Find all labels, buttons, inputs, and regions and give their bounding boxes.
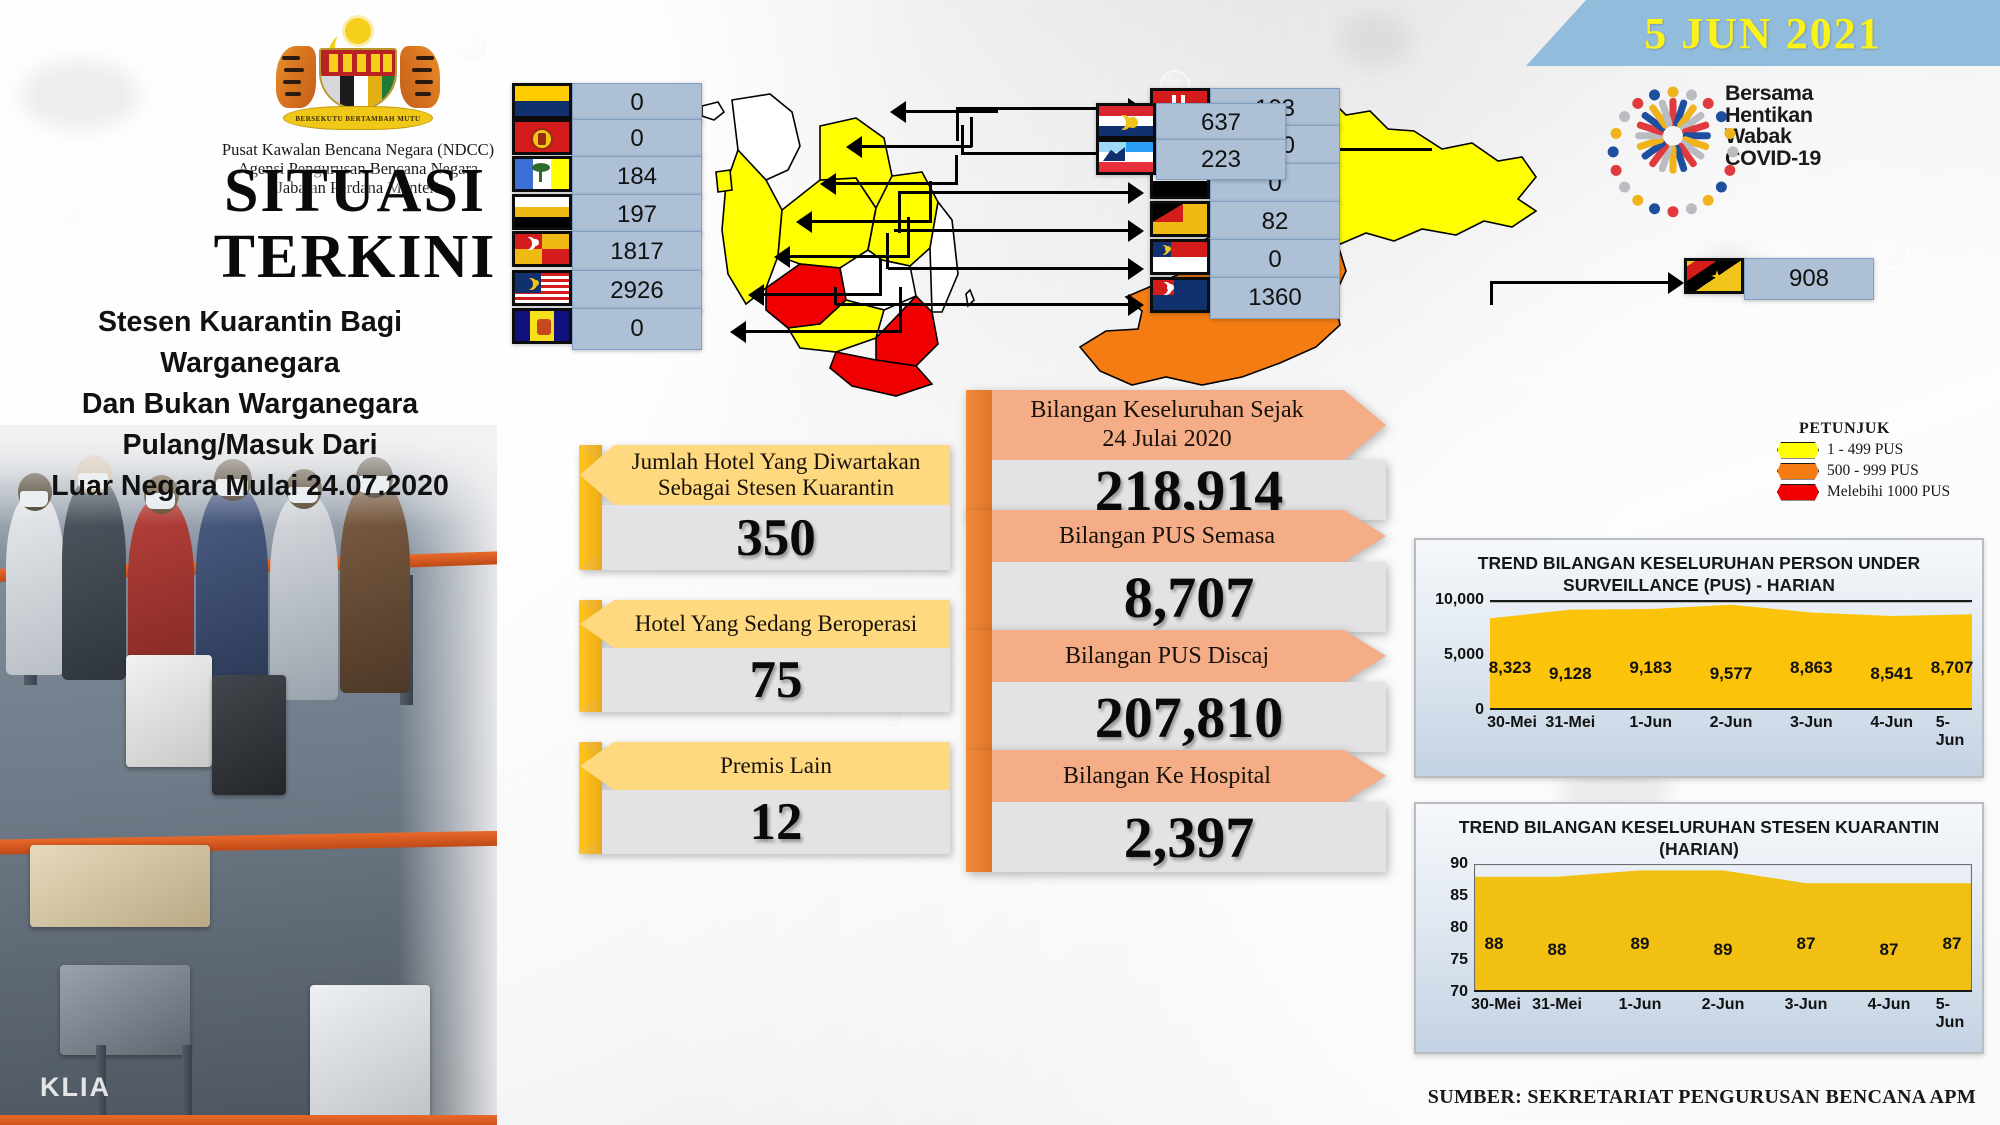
covid-logo-line-3: Wabak <box>1725 126 1821 148</box>
photo-luggage <box>212 675 286 795</box>
connector-arrow <box>796 211 812 233</box>
connector-line <box>886 233 889 269</box>
chart-pus-trend-xaxis: 30-Mei31-Mei1-Jun2-Jun3-Jun4-Jun5-Jun <box>1490 714 1968 740</box>
chart-station-trend-plot: 7075808590 88888989878787 <box>1474 864 1968 992</box>
connector-arrow <box>774 246 790 268</box>
chart-data-label: 9,577 <box>1710 664 1753 684</box>
flag-sarawak-icon <box>1684 258 1744 294</box>
malaysia-coat-of-arms-icon: BERSEKUTU BERTAMBAH MUTU <box>270 18 446 136</box>
stat-value-box: 8,707 <box>992 562 1386 632</box>
connector-line <box>955 155 958 185</box>
connector-line <box>834 287 837 305</box>
stat-to-hospital-label: Bilangan Ke Hospital <box>992 750 1342 802</box>
connector-arrow <box>1128 258 1144 280</box>
state-value-kedah-number: 0 <box>572 119 702 159</box>
chart-xtick: 5-Jun <box>1936 996 1964 1032</box>
banner-side-bevel <box>966 510 992 632</box>
connector-arrow <box>1128 182 1144 204</box>
subtitle-line-2: Dan Bukan Warganegara <box>20 384 480 425</box>
state-value-melaka-number: 0 <box>1210 239 1340 281</box>
airport-queue-photo: KLIA <box>0 425 497 1125</box>
page-title-line-2: TERKINI <box>115 224 595 290</box>
chart-pus-trend-area <box>1490 600 1972 710</box>
subtitle-line-3: Pulang/Masuk Dari <box>20 425 480 466</box>
banner-side-bevel <box>966 390 992 520</box>
flag-putrajaya-icon <box>512 308 572 344</box>
photo-luggage <box>126 655 212 767</box>
flag-melaka-icon <box>1150 239 1210 275</box>
stat-hotel-gazetted-label: Jumlah Hotel Yang DiwartakanSebagai Stes… <box>610 445 942 505</box>
chart-data-label: 8,323 <box>1489 658 1532 678</box>
chart-pus-trend-title: TREND BILANGAN KESELURUHAN PERSON UNDER … <box>1416 540 1982 600</box>
legend-swatch-orange-icon <box>1777 463 1819 480</box>
state-value-negeri-sembilan[interactable]: 82 <box>1150 201 1340 243</box>
chart-station-trend-yaxis: 7075808590 <box>1418 864 1468 992</box>
legend-label-1: 1 - 499 PUS <box>1827 441 1903 459</box>
legend-label-3: Melebihi 1000 PUS <box>1827 483 1950 501</box>
covid-logo-line-1: Bersama <box>1725 83 1821 105</box>
chart-ytick: 85 <box>1450 887 1468 905</box>
chart-data-label: 87 <box>1943 934 1962 954</box>
state-value-johor[interactable]: 1360 <box>1150 277 1340 319</box>
chart-data-label: 89 <box>1631 934 1650 954</box>
chart-xtick: 3-Jun <box>1785 996 1828 1014</box>
chart-data-label: 9,183 <box>1629 658 1672 678</box>
stat-total-since-label: Bilangan Keseluruhan Sejak24 Julai 2020 <box>992 390 1342 460</box>
chart-pus-trend-yaxis: 05,00010,000 <box>1418 600 1484 710</box>
state-value-melaka[interactable]: 0 <box>1150 239 1340 281</box>
connector-line <box>1490 281 1668 284</box>
connector-arrow <box>820 173 836 195</box>
source-footer: SUMBER: SEKRETARIAT PENGURUSAN BENCANA A… <box>1428 1086 1976 1109</box>
stat-total-since: 218,914 Bilangan Keseluruhan Sejak24 Jul… <box>966 390 1386 520</box>
legend-label-2: 500 - 999 PUS <box>1827 462 1919 480</box>
page-subtitle: Stesen Kuarantin Bagi Warganegara Dan Bu… <box>20 302 480 507</box>
banner-side-bevel <box>966 750 992 872</box>
chart-ytick: 70 <box>1450 983 1468 1001</box>
covid-ring-icon <box>1632 85 1714 167</box>
chart-pus-trend-plot: 05,00010,000 8,3239,1289,1839,5778,8638,… <box>1490 600 1968 710</box>
chart-xtick: 4-Jun <box>1870 714 1913 732</box>
stat-current-pus-value: 8,707 <box>992 562 1386 632</box>
chart-data-label: 88 <box>1485 934 1504 954</box>
chart-xtick: 1-Jun <box>1629 714 1672 732</box>
state-value-putrajaya[interactable]: 0 <box>512 308 702 350</box>
photo-luggage <box>310 985 430 1125</box>
page-title-line-1: SITUASI <box>115 158 595 224</box>
connector-line <box>894 229 1128 232</box>
chart-ytick: 90 <box>1450 855 1468 873</box>
connector-line <box>812 220 932 223</box>
chart-ytick: 80 <box>1450 919 1468 937</box>
chart-data-label: 8,863 <box>1790 658 1833 678</box>
state-value-sabah-number: 223 <box>1156 139 1286 180</box>
state-value-labuan[interactable]: 637 <box>1096 103 1286 143</box>
state-value-sarawak[interactable]: 908 <box>1684 258 1874 300</box>
chart-station-trend-area <box>1474 864 1972 992</box>
subtitle-line-1: Stesen Kuarantin Bagi Warganegara <box>20 302 480 384</box>
map-legend: PETUNJUK 1 - 499 PUS 500 - 999 PUS Meleb… <box>1777 420 1992 504</box>
legend-swatch-red-icon <box>1777 484 1819 501</box>
flag-negeri-sembilan-icon <box>1150 201 1210 237</box>
stat-to-hospital: 2,397 Bilangan Ke Hospital <box>966 750 1386 872</box>
stat-value-box: 12 <box>602 790 950 854</box>
chart-xtick: 30-Mei <box>1471 996 1521 1014</box>
photo-luggage <box>30 845 210 927</box>
chart-xtick: 5-Jun <box>1936 714 1964 750</box>
chart-ytick: 75 <box>1450 951 1468 969</box>
connector-line <box>836 303 1128 306</box>
covid-logo-line-4: COVID-19 <box>1725 148 1821 170</box>
chart-data-label: 88 <box>1548 940 1567 960</box>
connector-line <box>746 330 902 333</box>
chart-xtick: 30-Mei <box>1487 714 1537 732</box>
legend-title: PETUNJUK <box>1799 420 1992 438</box>
connector-line <box>956 107 959 141</box>
stat-current-pus: 8,707 Bilangan PUS Semasa <box>966 510 1386 632</box>
chart-station-trend: TREND BILANGAN KESELURUHAN STESEN KUARAN… <box>1414 802 1984 1054</box>
bubble-decoration <box>60 205 82 227</box>
stat-discharged-pus-value: 207,810 <box>992 682 1386 752</box>
legend-swatch-yellow-icon <box>1777 442 1819 459</box>
connector-arrow <box>1668 272 1684 294</box>
chart-station-trend-xaxis: 30-Mei31-Mei1-Jun2-Jun3-Jun4-Jun5-Jun <box>1474 996 1968 1022</box>
chart-xtick: 31-Mei <box>1545 714 1595 732</box>
chart-data-label: 87 <box>1880 940 1899 960</box>
state-value-negeri-sembilan-number: 82 <box>1210 201 1340 243</box>
stat-current-pus-label: Bilangan PUS Semasa <box>992 510 1342 562</box>
stat-discharged-pus-label: Bilangan PUS Discaj <box>992 630 1342 682</box>
covid-logo-line-2: Hentikan <box>1725 105 1821 127</box>
stat-hotel-operating: 75 Hotel Yang Sedang Beroperasi <box>580 600 950 712</box>
flag-labuan-icon <box>1096 103 1156 139</box>
stat-value-box: 350 <box>602 505 950 570</box>
page-title: SITUASI TERKINI <box>115 158 595 290</box>
connector-arrow <box>846 136 862 158</box>
flag-sabah-icon <box>1096 139 1156 175</box>
chart-data-label: 9,128 <box>1549 664 1592 684</box>
stat-value-box: 75 <box>602 648 950 712</box>
stat-hotel-gazetted: 350 Jumlah Hotel Yang DiwartakanSebagai … <box>580 445 950 570</box>
chart-xtick: 3-Jun <box>1790 714 1833 732</box>
chart-data-label: 8,541 <box>1870 664 1913 684</box>
state-value-putrajaya-number: 0 <box>572 308 702 350</box>
connector-line <box>879 259 882 295</box>
photo-trolley-frame <box>182 1045 192 1125</box>
stat-value-box: 2,397 <box>992 802 1386 872</box>
chart-data-label: 87 <box>1797 934 1816 954</box>
state-value-sabah[interactable]: 223 <box>1096 139 1286 180</box>
photo-luggage <box>60 965 190 1055</box>
stat-other-premises-value: 12 <box>602 790 950 854</box>
chart-ytick: 10,000 <box>1435 591 1484 609</box>
chart-pus-trend: TREND BILANGAN KESELURUHAN PERSON UNDER … <box>1414 538 1984 778</box>
chart-xtick: 1-Jun <box>1619 996 1662 1014</box>
connector-line <box>1490 281 1493 305</box>
stat-discharged-pus: 207,810 Bilangan PUS Discaj <box>966 630 1386 752</box>
connector-line <box>888 267 1128 270</box>
covid-logo-text: Bersama Hentikan Wabak COVID-19 <box>1725 83 1821 169</box>
connector-line <box>970 117 973 147</box>
connector-arrow <box>748 284 764 306</box>
flag-johor-icon <box>1150 277 1210 313</box>
smudge-decoration <box>20 60 140 130</box>
stat-hotel-gazetted-value: 350 <box>602 505 950 570</box>
state-value-sarawak-number: 908 <box>1744 258 1874 300</box>
chart-xtick: 2-Jun <box>1702 996 1745 1014</box>
stat-other-premises: 12 Premis Lain <box>580 742 950 854</box>
state-value-johor-number: 1360 <box>1210 277 1340 319</box>
date-banner: 5 JUN 2021 <box>1526 0 2000 66</box>
connector-line <box>929 181 932 223</box>
connector-line <box>764 293 882 296</box>
chart-xtick: 2-Jun <box>1710 714 1753 732</box>
connector-line <box>961 125 964 155</box>
chart-ytick: 5,000 <box>1444 646 1484 664</box>
stat-hotel-operating-label: Hotel Yang Sedang Beroperasi <box>610 600 942 648</box>
photo-klia-caption: KLIA <box>40 1072 111 1103</box>
bersama-hentikan-wabak-covid19-logo: Bersama Hentikan Wabak COVID-19 <box>1632 82 1982 170</box>
stat-hotel-operating-value: 75 <box>602 648 950 712</box>
photo-barrier-rail <box>0 1115 497 1125</box>
legend-item: Melebihi 1000 PUS <box>1777 483 1992 501</box>
connector-line <box>790 255 910 258</box>
stat-value-box: 207,810 <box>992 682 1386 752</box>
connector-arrow <box>890 101 906 123</box>
chart-data-label: 89 <box>1714 940 1733 960</box>
banner-side-bevel <box>966 630 992 752</box>
legend-item: 1 - 499 PUS <box>1777 441 1992 459</box>
chart-xtick: 4-Jun <box>1868 996 1911 1014</box>
legend-item: 500 - 999 PUS <box>1777 462 1992 480</box>
state-value-labuan-number: 637 <box>1156 103 1286 143</box>
connector-line <box>898 191 901 233</box>
crest-motto: BERSEKUTU BERTAMBAH MUTU <box>284 107 432 131</box>
connector-line <box>906 110 998 113</box>
connector-line <box>907 217 910 258</box>
connector-line <box>899 287 902 332</box>
connector-arrow <box>730 321 746 343</box>
chart-xtick: 31-Mei <box>1532 996 1582 1014</box>
connector-line <box>862 145 972 148</box>
date-banner-text: 5 JUN 2021 <box>1644 8 1882 59</box>
connector-line <box>900 191 1128 194</box>
state-value-perlis-number: 0 <box>572 83 702 123</box>
connector-arrow <box>1128 220 1144 242</box>
chart-data-label: 8,707 <box>1931 658 1974 678</box>
photo-person <box>270 495 338 700</box>
connector-line <box>836 182 958 185</box>
stat-to-hospital-value: 2,397 <box>992 802 1386 872</box>
connector-arrow <box>1128 294 1144 316</box>
chart-ytick: 0 <box>1475 701 1484 719</box>
stat-other-premises-label: Premis Lain <box>610 742 942 790</box>
subtitle-line-4: Luar Negara Mulai 24.07.2020 <box>20 466 480 507</box>
chart-station-trend-title: TREND BILANGAN KESELURUHAN STESEN KUARAN… <box>1416 804 1982 864</box>
